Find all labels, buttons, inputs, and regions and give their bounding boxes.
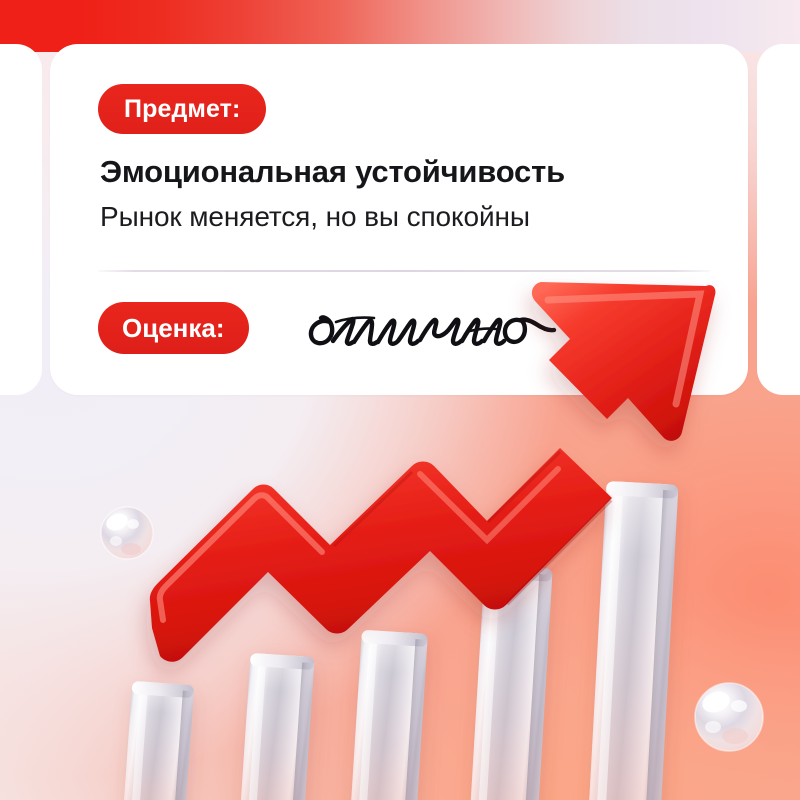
subject-card[interactable]: Предмет: Эмоциональная устойчивость Рыно… (50, 44, 748, 395)
subject-title: Эмоциональная устойчивость (100, 154, 565, 190)
handwriting-icon (300, 300, 570, 358)
subject-label-badge: Предмет: (98, 84, 266, 134)
grade-value-handwritten (300, 300, 570, 358)
background-bottom-warm-glow (0, 540, 800, 800)
subject-subtitle: Рынок меняется, но вы спокойны (100, 201, 530, 233)
poster-canvas: Предмет: Эмоциональная устойчивость Рыно… (0, 0, 800, 800)
carousel-card-previous[interactable] (0, 44, 42, 395)
card-divider (98, 270, 710, 272)
carousel-card-next[interactable] (757, 44, 800, 395)
grade-label-badge: Оценка: (98, 302, 249, 354)
